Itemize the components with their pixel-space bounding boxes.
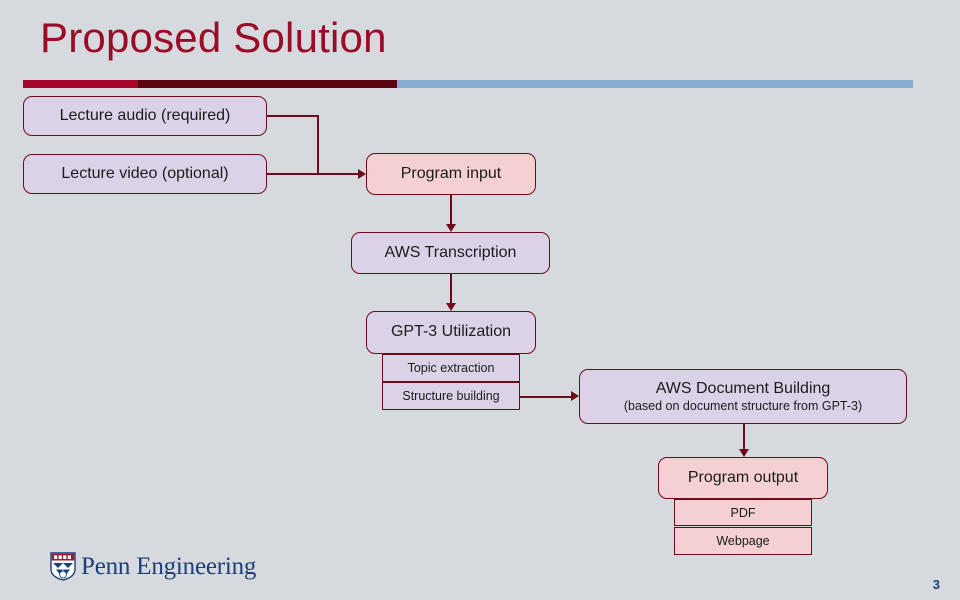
arrowhead-to-program-output: [739, 449, 749, 457]
connector-structure-to-aws-document: [520, 396, 574, 398]
page-title: Proposed Solution: [40, 14, 387, 62]
node-gpt3-utilization[interactable]: GPT-3 Utilization: [366, 311, 536, 354]
node-aws-transcription[interactable]: AWS Transcription: [351, 232, 550, 274]
divider-segment-maroon: [138, 80, 397, 88]
arrowhead-to-aws-transcription: [446, 224, 456, 232]
penn-engineering-wordmark: Penn Engineering: [81, 553, 256, 581]
node-program-input[interactable]: Program input: [366, 153, 536, 195]
subnode-structure-building[interactable]: Structure building: [382, 382, 520, 410]
node-aws-document-building-label: AWS Document Building: [656, 380, 831, 398]
divider-segment-crimson: [23, 80, 138, 88]
node-lecture-audio[interactable]: Lecture audio (required): [23, 96, 267, 136]
node-program-output-label: Program output: [688, 469, 798, 487]
connector-video-horizontal: [267, 173, 361, 175]
connector-audio-vertical: [317, 115, 319, 174]
connector-aws-document-to-output: [743, 424, 745, 452]
subnode-topic-extraction-label: Topic extraction: [408, 361, 495, 375]
arrowhead-to-aws-document-building: [571, 391, 579, 401]
node-gpt3-utilization-label: GPT-3 Utilization: [391, 323, 511, 341]
penn-shield-icon: [50, 552, 76, 581]
node-program-input-label: Program input: [401, 165, 502, 183]
arrowhead-to-program-input: [358, 169, 366, 179]
arrowhead-to-gpt3-utilization: [446, 303, 456, 311]
node-lecture-video[interactable]: Lecture video (optional): [23, 154, 267, 194]
subnode-pdf[interactable]: PDF: [674, 499, 812, 526]
node-lecture-video-label: Lecture video (optional): [61, 165, 228, 183]
subnode-webpage[interactable]: Webpage: [674, 527, 812, 555]
node-aws-document-building[interactable]: AWS Document Building (based on document…: [579, 369, 907, 424]
connector-transcription-to-gpt3: [450, 274, 452, 306]
subnode-pdf-label: PDF: [731, 506, 756, 520]
page-number: 3: [933, 577, 940, 592]
divider-segment-blue: [397, 80, 913, 88]
node-aws-transcription-label: AWS Transcription: [385, 244, 517, 262]
subnode-topic-extraction[interactable]: Topic extraction: [382, 354, 520, 382]
penn-engineering-logo: Penn Engineering: [50, 552, 256, 581]
connector-program-input-to-transcription: [450, 195, 452, 227]
subnode-webpage-label: Webpage: [716, 534, 769, 548]
subnode-structure-building-label: Structure building: [402, 389, 499, 403]
node-lecture-audio-label: Lecture audio (required): [60, 107, 231, 125]
slide-canvas: Proposed Solution Lecture audio (require…: [0, 0, 960, 600]
node-aws-document-building-sublabel: (based on document structure from GPT-3): [624, 399, 862, 413]
connector-audio-horizontal: [267, 115, 319, 117]
node-program-output[interactable]: Program output: [658, 457, 828, 499]
